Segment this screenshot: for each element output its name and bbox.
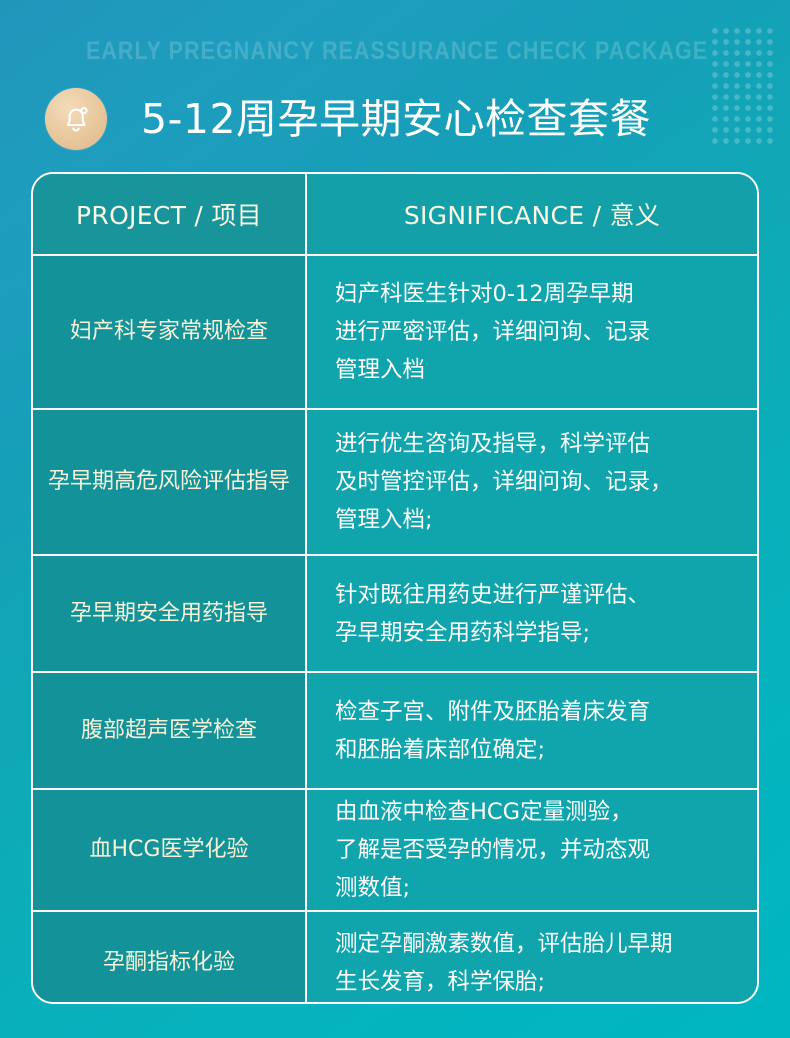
bell-icon [59, 102, 93, 136]
cell-significance: 针对既往用药史进行严谨评估、 孕早期安全用药科学指导; [307, 556, 757, 671]
table-row: 孕早期安全用药指导 针对既往用药史进行严谨评估、 孕早期安全用药科学指导; [33, 556, 757, 673]
table-row: 血HCG医学化验 由血液中检查HCG定量测验， 了解是否受孕的情况，并动态观 测… [33, 790, 757, 912]
page-title: 5-12周孕早期安心检查套餐 [141, 96, 651, 142]
package-poster: EARLY PREGNANCY REASSURANCE CHECK PACKAG… [0, 0, 790, 1038]
cell-project: 孕早期高危风险评估指导 [33, 410, 307, 554]
significance-text: 针对既往用药史进行严谨评估、 孕早期安全用药科学指导; [335, 576, 650, 652]
significance-line: 了解是否受孕的情况，并动态观 [335, 831, 650, 869]
column-header-label: PROJECT / 项目 [76, 196, 262, 232]
poster-header: EARLY PREGNANCY REASSURANCE CHECK PACKAG… [0, 0, 790, 170]
significance-text: 检查子宫、附件及胚胎着床发育 和胚胎着床部位确定; [335, 693, 650, 769]
cell-project: 孕早期安全用药指导 [33, 556, 307, 671]
table-row: 腹部超声医学检查 检查子宫、附件及胚胎着床发育 和胚胎着床部位确定; [33, 673, 757, 790]
table-row: 孕早期高危风险评估指导 进行优生咨询及指导，科学评估 及时管控评估，详细问询、记… [33, 410, 757, 556]
cell-significance: 由血液中检查HCG定量测验， 了解是否受孕的情况，并动态观 测数值; [307, 790, 757, 910]
cell-significance: 进行优生咨询及指导，科学评估 及时管控评估，详细问询、记录， 管理入档; [307, 410, 757, 554]
significance-line: 进行优生咨询及指导，科学评估 [335, 425, 673, 463]
cell-significance: 检查子宫、附件及胚胎着床发育 和胚胎着床部位确定; [307, 673, 757, 788]
project-label: 孕早期高危风险评估指导 [48, 467, 290, 497]
package-table: PROJECT / 项目 SIGNIFICANCE / 意义 妇产科专家常规检查… [31, 172, 759, 1004]
column-header-label: SIGNIFICANCE / 意义 [404, 196, 660, 232]
significance-line: 和胚胎着床部位确定; [335, 731, 650, 769]
significance-line: 由血液中检查HCG定量测验， [335, 793, 650, 831]
significance-line: 管理入档 [335, 351, 650, 389]
project-label: 孕早期安全用药指导 [70, 599, 268, 629]
significance-line: 及时管控评估，详细问询、记录， [335, 463, 673, 501]
significance-line: 进行严密评估，详细问询、记录 [335, 313, 650, 351]
significance-line: 针对既往用药史进行严谨评估、 [335, 576, 650, 614]
project-label: 腹部超声医学检查 [81, 716, 257, 746]
cell-project: 血HCG医学化验 [33, 790, 307, 910]
cell-project: 妇产科专家常规检查 [33, 256, 307, 408]
bell-icon-badge [45, 88, 107, 150]
significance-text: 妇产科医生针对0-12周孕早期 进行严密评估，详细问询、记录 管理入档 [335, 275, 650, 389]
english-subtitle: EARLY PREGNANCY REASSURANCE CHECK PACKAG… [86, 36, 708, 66]
table-row: 孕酮指标化验 测定孕酮激素数值，评估胎儿早期 生长发育，科学保胎; [33, 912, 757, 1004]
project-label: 血HCG医学化验 [90, 835, 249, 865]
header-cell-significance: SIGNIFICANCE / 意义 [307, 174, 757, 254]
significance-line: 测数值; [335, 869, 650, 907]
significance-text: 进行优生咨询及指导，科学评估 及时管控评估，详细问询、记录， 管理入档; [335, 425, 673, 539]
significance-line: 管理入档; [335, 501, 673, 539]
significance-line: 生长发育，科学保胎; [335, 963, 673, 1001]
cell-significance: 妇产科医生针对0-12周孕早期 进行严密评估，详细问询、记录 管理入档 [307, 256, 757, 408]
significance-line: 孕早期安全用药科学指导; [335, 614, 650, 652]
project-label: 妇产科专家常规检查 [70, 317, 268, 347]
project-label: 孕酮指标化验 [103, 948, 235, 978]
title-row: 5-12周孕早期安心检查套餐 [45, 88, 651, 150]
significance-line: 测定孕酮激素数值，评估胎儿早期 [335, 925, 673, 963]
cell-project: 孕酮指标化验 [33, 912, 307, 1004]
table-row: 妇产科专家常规检查 妇产科医生针对0-12周孕早期 进行严密评估，详细问询、记录… [33, 256, 757, 410]
significance-line: 检查子宫、附件及胚胎着床发育 [335, 693, 650, 731]
table-header-row: PROJECT / 项目 SIGNIFICANCE / 意义 [33, 174, 757, 256]
significance-line: 妇产科医生针对0-12周孕早期 [335, 275, 650, 313]
cell-significance: 测定孕酮激素数值，评估胎儿早期 生长发育，科学保胎; [307, 912, 757, 1004]
cell-project: 腹部超声医学检查 [33, 673, 307, 788]
significance-text: 测定孕酮激素数值，评估胎儿早期 生长发育，科学保胎; [335, 925, 673, 1001]
header-cell-project: PROJECT / 项目 [33, 174, 307, 254]
significance-text: 由血液中检查HCG定量测验， 了解是否受孕的情况，并动态观 测数值; [335, 793, 650, 907]
